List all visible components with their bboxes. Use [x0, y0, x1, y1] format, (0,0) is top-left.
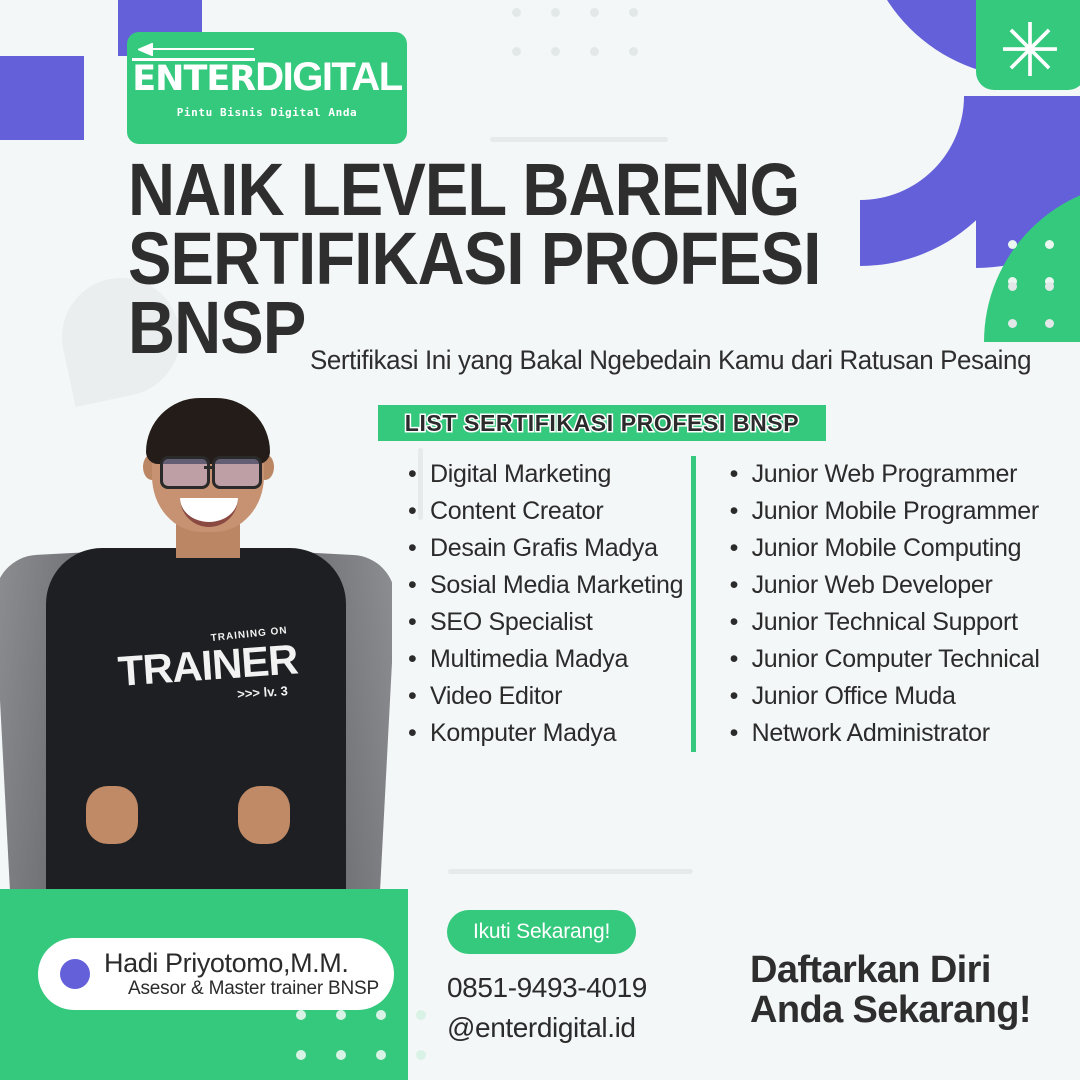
footer-call-to-action: Daftarkan Diri Anda Sekarang! [750, 951, 1050, 1030]
page-title: NAIK LEVEL BARENG SERTIFIKASI PROFESI BN… [128, 156, 920, 362]
divider-top [490, 137, 668, 142]
list-item-label: Junior Computer Technical [752, 641, 1040, 678]
dot-grid-green-panel [296, 1010, 426, 1080]
logo-enter-text: ENTER [132, 58, 255, 97]
list-item-label: Komputer Madya [430, 715, 616, 752]
list-item-label: Junior Technical Support [752, 604, 1018, 641]
bullet-icon: • [730, 456, 752, 493]
dot-grid-top-right-gray [1008, 282, 1054, 328]
bullet-icon: • [730, 604, 752, 641]
list-item: •Junior Web Programmer [730, 456, 1080, 493]
list-item: •Digital Marketing [408, 456, 691, 493]
poster-canvas: ✳ ENTER DIGITAL Pintu Bisnis Digital And… [0, 0, 1080, 1080]
logo-wordmark: ENTER DIGITAL [132, 57, 401, 97]
brand-logo: ENTER DIGITAL Pintu Bisnis Digital Anda [127, 32, 407, 144]
presenter-name-card: Hadi Priyotomo,M.M. Asesor & Master trai… [38, 938, 394, 1010]
certification-column-right: •Junior Web Programmer •Junior Mobile Pr… [691, 456, 1080, 752]
bullet-icon: • [408, 678, 430, 715]
bullet-icon: • [730, 493, 752, 530]
list-banner: LIST SERTIFIKASI PROFESI BNSP [378, 405, 826, 441]
tshirt [46, 548, 346, 918]
list-item-label: Junior Mobile Programmer [752, 493, 1039, 530]
list-item-label: Desain Grafis Madya [430, 530, 658, 567]
instagram-handle[interactable]: @enterdigital.id [447, 1012, 636, 1044]
bullet-icon: • [408, 493, 430, 530]
glasses-left-lens-icon [160, 456, 210, 489]
list-item: •Desain Grafis Madya [408, 530, 691, 567]
purple-square-left-icon [0, 56, 84, 140]
bullet-icon: • [408, 604, 430, 641]
list-item: •Junior Office Muda [730, 678, 1080, 715]
bullet-icon: • [408, 530, 430, 567]
footer-cta-line-1: Daftarkan Diri [750, 951, 1050, 991]
glasses-bridge-icon [204, 466, 214, 469]
logo-arrow-icon [138, 43, 254, 56]
bullet-icon: • [730, 678, 752, 715]
phone-number[interactable]: 0851-9493-4019 [447, 972, 647, 1004]
bullet-icon: • [408, 641, 430, 678]
logo-digital-text: DIGITAL [255, 57, 402, 97]
headline-line-2: SERTIFIKASI PROFESI [128, 225, 920, 294]
list-item-label: Junior Office Muda [752, 678, 956, 715]
list-item: •Junior Web Developer [730, 567, 1080, 604]
list-item: •SEO Specialist [408, 604, 691, 641]
list-item-label: Junior Web Programmer [752, 456, 1018, 493]
list-item: •Video Editor [408, 678, 691, 715]
list-item: •Multimedia Madya [408, 641, 691, 678]
list-item-label: SEO Specialist [430, 604, 593, 641]
hair [146, 398, 270, 464]
list-item: •Sosial Media Marketing [408, 567, 691, 604]
bullet-icon: • [408, 456, 430, 493]
bullet-icon: • [730, 715, 752, 752]
bullet-icon: • [730, 641, 752, 678]
list-item: •Junior Mobile Computing [730, 530, 1080, 567]
certification-lists: •Digital Marketing •Content Creator •Des… [408, 456, 1080, 752]
bullet-icon: • [408, 567, 430, 604]
list-item-label: Network Administrator [752, 715, 990, 752]
footer-cta-line-2: Anda Sekarang! [750, 991, 1050, 1031]
bullet-icon: • [730, 567, 752, 604]
list-item: •Content Creator [408, 493, 691, 530]
purple-dot-icon [60, 959, 90, 989]
list-item: •Komputer Madya [408, 715, 691, 752]
hand-left [86, 786, 138, 844]
list-item-label: Junior Web Developer [752, 567, 993, 604]
list-item: •Network Administrator [730, 715, 1080, 752]
list-item-label: Multimedia Madya [430, 641, 628, 678]
bullet-icon: • [730, 530, 752, 567]
presenter-role: Asesor & Master trainer BNSP [128, 978, 379, 1000]
presenter-name: Hadi Priyotomo,M.M. [104, 949, 379, 978]
list-item-label: Sosial Media Marketing [430, 567, 683, 604]
list-item: •Junior Computer Technical [730, 641, 1080, 678]
logo-tagline: Pintu Bisnis Digital Anda [177, 106, 358, 119]
register-button[interactable]: Ikuti Sekarang! [447, 910, 636, 954]
dot-grid-top-right-light [1008, 240, 1054, 286]
asterisk-icon: ✳ [985, 6, 1075, 96]
list-item-label: Digital Marketing [430, 456, 611, 493]
list-item-label: Content Creator [430, 493, 603, 530]
register-button-label: Ikuti Sekarang! [473, 920, 610, 944]
list-item-label: Junior Mobile Computing [752, 530, 1022, 567]
list-item: •Junior Technical Support [730, 604, 1080, 641]
tshirt-graphic: TRAINING ON TRAINER >>> lv. 3 [118, 634, 288, 704]
certification-column-left: •Digital Marketing •Content Creator •Des… [408, 456, 691, 752]
list-item-label: Video Editor [430, 678, 562, 715]
list-banner-label: LIST SERTIFIKASI PROFESI BNSP [405, 410, 799, 437]
presenter-info: Hadi Priyotomo,M.M. Asesor & Master trai… [104, 949, 379, 1000]
list-item: •Junior Mobile Programmer [730, 493, 1080, 530]
divider-bottom [448, 869, 693, 874]
glasses-right-lens-icon [212, 456, 262, 489]
bullet-icon: • [408, 715, 430, 752]
presenter-photo: TRAINING ON TRAINER >>> lv. 3 [0, 398, 392, 918]
dot-grid-top [512, 8, 638, 56]
hand-right [238, 786, 290, 844]
subtitle: Sertifikasi Ini yang Bakal Ngebedain Kam… [310, 345, 1031, 376]
headline-line-1: NAIK LEVEL BARENG [128, 156, 920, 225]
